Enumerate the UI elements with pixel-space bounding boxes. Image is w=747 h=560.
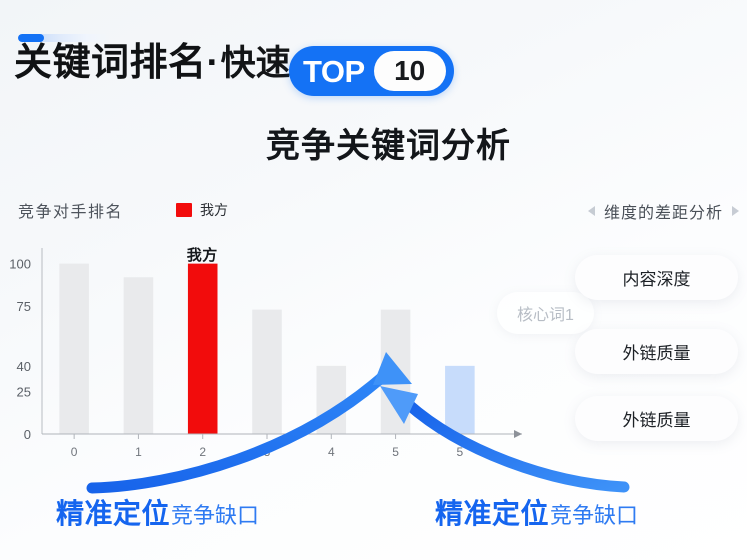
caption-left-strong: 精准定位	[56, 500, 170, 528]
legend-label: 我方	[200, 200, 228, 220]
progress-bar-track	[18, 34, 110, 42]
y-axis-tick-label: 25	[17, 384, 31, 399]
x-axis-tick-label: 5	[392, 445, 399, 459]
caption-right: 精准定位 竞争缺口	[435, 500, 638, 528]
y-axis-tick-label: 100	[9, 257, 31, 272]
bar-chart: 10075402500123455	[0, 238, 540, 474]
y-axis-tick-label: 75	[17, 299, 31, 314]
chart-legend: 我方	[176, 200, 228, 220]
bar[interactable]	[252, 310, 282, 434]
gap-analysis-header: 维度的差距分析	[588, 199, 739, 223]
chart-title: 竞争对手排名	[18, 198, 123, 222]
caption-right-soft: 竞争缺口	[550, 505, 638, 527]
x-axis-tick-label: 2	[199, 445, 206, 459]
highlight-bar-label: 我方	[187, 244, 218, 265]
caption-left-soft: 竞争缺口	[171, 505, 259, 527]
caption-right-strong: 精准定位	[435, 500, 549, 528]
dimension-card[interactable]: 外链质量	[575, 329, 738, 374]
x-axis-tick-label: 0	[71, 445, 78, 459]
gap-analysis-label: 维度的差距分析	[604, 199, 723, 223]
core-keyword-pill: 核心词1	[497, 292, 594, 334]
page-title-main: 关键词排名·	[14, 44, 220, 82]
x-axis-tick-label: 3	[264, 445, 271, 459]
triangle-left-icon	[588, 206, 595, 216]
bar-highlight[interactable]	[188, 264, 218, 434]
page-title-accent: 快速	[221, 46, 291, 81]
bar[interactable]	[381, 310, 411, 434]
page-title: 关键词排名· 快速	[14, 44, 291, 82]
caption-left: 精准定位 竞争缺口	[56, 500, 259, 528]
y-axis-tick-label: 0	[24, 427, 31, 442]
top-rank-badge-value: 10	[374, 51, 446, 91]
legend-swatch-icon	[176, 203, 192, 217]
bar-chart-svg: 10075402500123455	[0, 238, 540, 474]
triangle-right-icon	[732, 206, 739, 216]
x-axis-tick-label: 5	[457, 445, 464, 459]
bar[interactable]	[317, 366, 347, 434]
bar-target[interactable]	[445, 366, 475, 434]
x-axis-tick-label: 1	[135, 445, 142, 459]
y-axis-tick-label: 40	[17, 359, 31, 374]
dimension-card[interactable]: 外链质量	[575, 396, 738, 441]
bar[interactable]	[59, 264, 89, 434]
top-rank-badge: TOP 10	[289, 46, 454, 96]
top-rank-badge-label: TOP	[303, 56, 365, 87]
page-subtitle: 竞争关键词分析	[0, 118, 747, 167]
x-axis-arrow-icon	[514, 430, 522, 438]
dimension-card[interactable]: 内容深度	[575, 255, 738, 300]
x-axis-tick-label: 4	[328, 445, 335, 459]
slide-canvas: 关键词排名· 快速 TOP 10 竞争关键词分析 竞争对手排名 我方 维度的差距…	[0, 0, 747, 560]
bar[interactable]	[124, 277, 154, 434]
progress-bar-fill	[18, 34, 44, 42]
